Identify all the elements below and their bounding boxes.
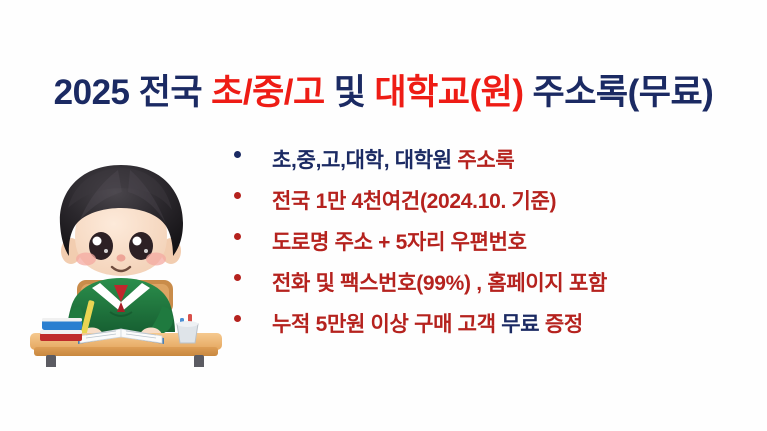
bullet-marker-icon [228,183,272,199]
title-segment-3: 및 [334,73,366,112]
feature-bullet-list: 초,중,고,대학, 대학원 주소록 전국 1만 4천여건(2024.10. 기준… [228,142,763,347]
list-item-segment-a: 초,중,고,대학, 대학원 [272,149,457,172]
title-segment-4: 대학교(원) [374,73,523,112]
bullet-marker-icon [228,142,272,158]
list-item: 전화 및 팩스번호(99%) , 홈페이지 포함 [228,265,763,306]
list-item-text: 전화 및 팩스번호(99%) , 홈페이지 포함 [272,265,763,297]
bullet-marker-icon [228,306,272,322]
desk-leg-right [194,355,204,367]
list-item: 초,중,고,대학, 대학원 주소록 [228,142,763,183]
title-segment-5: 주소록(무료) [533,73,714,112]
poster-canvas: 2025 전국초/중/고및대학교(원)주소록(무료) [0,0,767,431]
list-item-segment-a: 도로명 주소 + 5자리 우편번호 [272,231,527,254]
student-illustration-svg [22,152,230,367]
pencil-cup-shape [177,314,198,343]
list-item-text: 누적 5만원 이상 구매 고객 무료 증정 [272,306,763,338]
page-title: 2025 전국초/중/고및대학교(원)주소록(무료) [0,74,767,113]
bullet-marker-icon [228,265,272,281]
list-item-segment-b: 주소록 [457,149,514,172]
student-illustration [22,152,230,367]
list-item: 누적 5만원 이상 구매 고객 무료 증정 [228,306,763,347]
list-item-text: 전국 1만 4천여건(2024.10. 기준) [272,183,763,215]
stacked-books-shape [40,318,82,341]
list-item-segment-a: 누적 5만원 이상 구매 고객 [272,313,501,336]
bullet-marker-icon [228,224,272,240]
list-item-text: 도로명 주소 + 5자리 우편번호 [272,224,763,256]
list-item-segment-c: 증정 [539,313,583,336]
list-item: 도로명 주소 + 5자리 우편번호 [228,224,763,265]
list-item-segment-a: 전국 1만 4천여건(2024.10. 기준) [272,190,556,213]
list-item-segment-b: 무료 [501,313,539,336]
list-item: 전국 1만 4천여건(2024.10. 기준) [228,183,763,224]
list-item-segment-a: 전화 및 팩스번호(99%) , 홈페이지 포함 [272,272,607,295]
title-segment-1: 2025 전국 [54,73,203,112]
title-segment-2: 초/중/고 [211,73,325,112]
desk-leg-left [46,355,56,367]
list-item-text: 초,중,고,대학, 대학원 주소록 [272,142,763,174]
